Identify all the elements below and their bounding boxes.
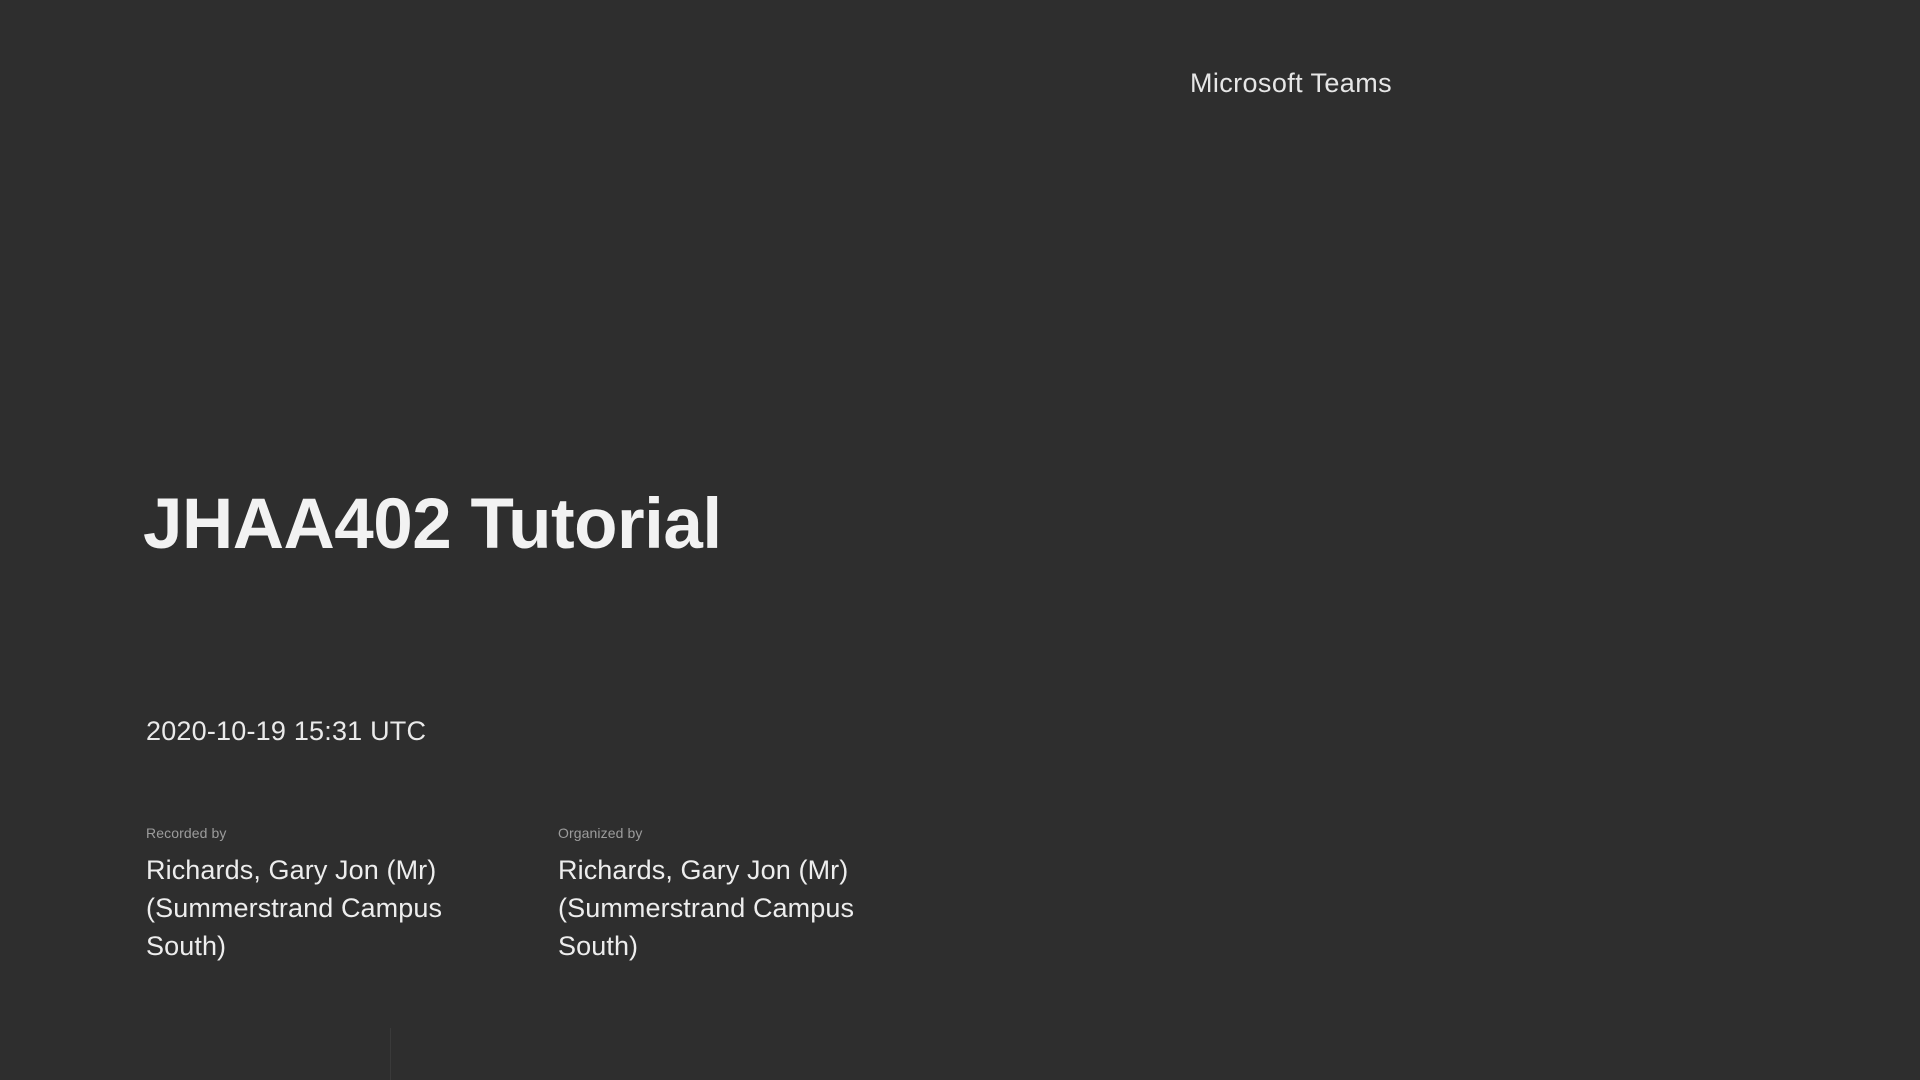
meeting-timestamp: 2020-10-19 15:31 UTC	[146, 716, 426, 747]
video-tile-divider	[390, 1028, 391, 1080]
teams-recording-title-card: Microsoft Teams JHAA402 Tutorial 2020-10…	[0, 0, 1920, 1080]
recorded-by-label: Recorded by	[146, 825, 534, 842]
credit-column-recorded-by: Recorded by Richards, Gary Jon (Mr) (Sum…	[146, 825, 558, 966]
recorded-by-value: Richards, Gary Jon (Mr) (Summerstrand Ca…	[146, 851, 476, 966]
microsoft-teams-brand-label: Microsoft Teams	[1190, 68, 1392, 99]
organized-by-label: Organized by	[558, 825, 946, 842]
organized-by-value: Richards, Gary Jon (Mr) (Summerstrand Ca…	[558, 851, 888, 966]
credit-column-organized-by: Organized by Richards, Gary Jon (Mr) (Su…	[558, 825, 970, 966]
credits-section: Recorded by Richards, Gary Jon (Mr) (Sum…	[146, 825, 970, 966]
meeting-title: JHAA402 Tutorial	[143, 487, 722, 564]
